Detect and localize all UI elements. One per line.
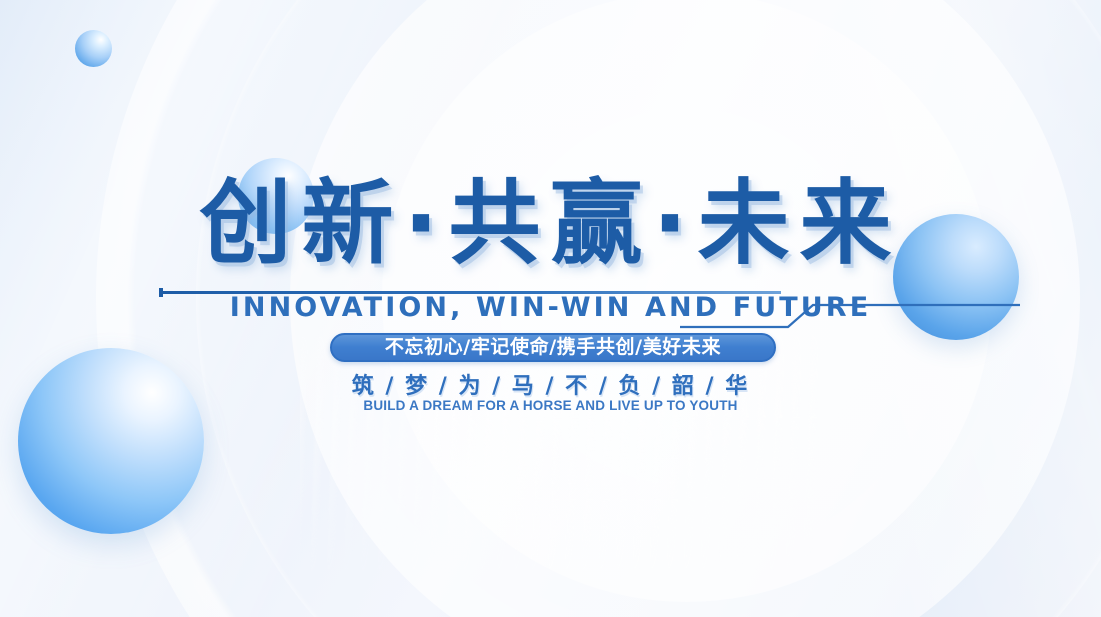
slogan-chinese: 筑 / 梦 / 为 / 马 / 不 / 负 / 韶 / 华 [0, 368, 1101, 400]
subtitle-english: INNOVATION, WIN-WIN AND FUTURE [0, 292, 1101, 323]
headline-block: 创新·共赢·未来 INNOVATION, WIN-WIN AND FUTURE … [0, 0, 1101, 617]
mission-pill-badge: 不忘初心/牢记使命/携手共创/美好未来 [330, 333, 776, 362]
page-title: 创新·共赢·未来 [0, 178, 1101, 270]
slogan-english: BUILD A DREAM FOR A HORSE AND LIVE UP TO… [0, 398, 1101, 413]
poster-canvas: 创新·共赢·未来 INNOVATION, WIN-WIN AND FUTURE … [0, 0, 1101, 617]
